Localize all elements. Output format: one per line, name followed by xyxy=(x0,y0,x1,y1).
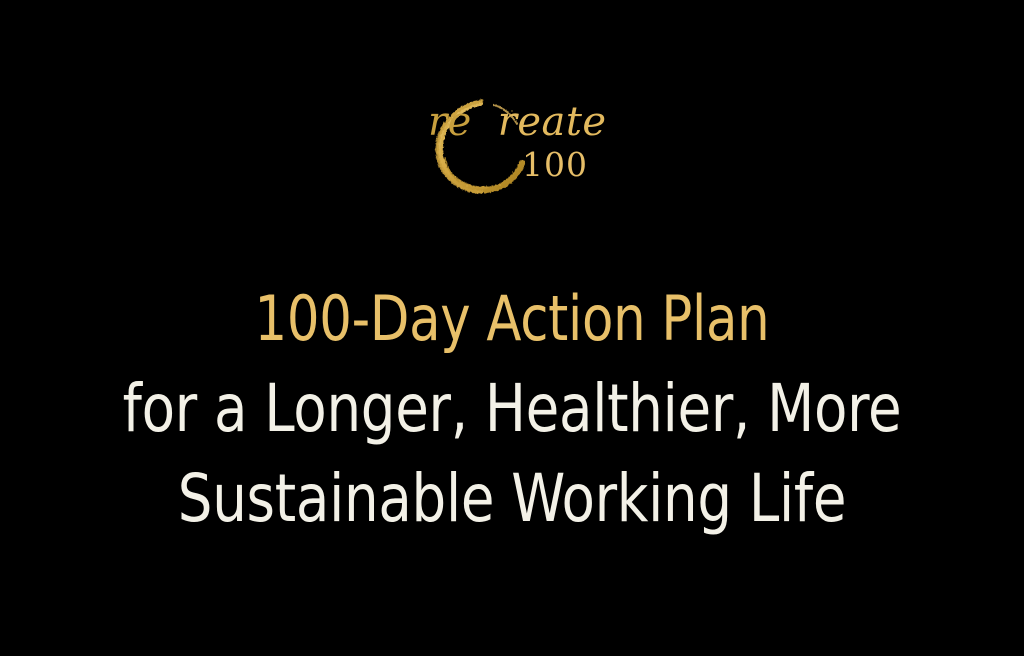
logo-number: 100 xyxy=(522,148,588,181)
subtitle-line-1: for a Longer, Healthier, More xyxy=(41,364,983,454)
brand-logo: recreate 100 xyxy=(0,86,1024,196)
logo-wordmark: recreate xyxy=(428,102,607,142)
subtitle-line-2: Sustainable Working Life xyxy=(41,454,983,544)
logo-wordmark-prefix: re xyxy=(428,99,472,145)
page-title: 100-Day Action Plan xyxy=(41,274,983,364)
logo-inner: recreate 100 xyxy=(412,86,612,196)
title-slide: recreate 100 100-Day Action Plan for a L… xyxy=(0,0,1024,656)
logo-wordmark-suffix: reate xyxy=(498,99,607,145)
title-block: 100-Day Action Plan for a Longer, Health… xyxy=(0,274,1024,544)
logo-wordmark-crescent-letter: c xyxy=(472,99,498,145)
